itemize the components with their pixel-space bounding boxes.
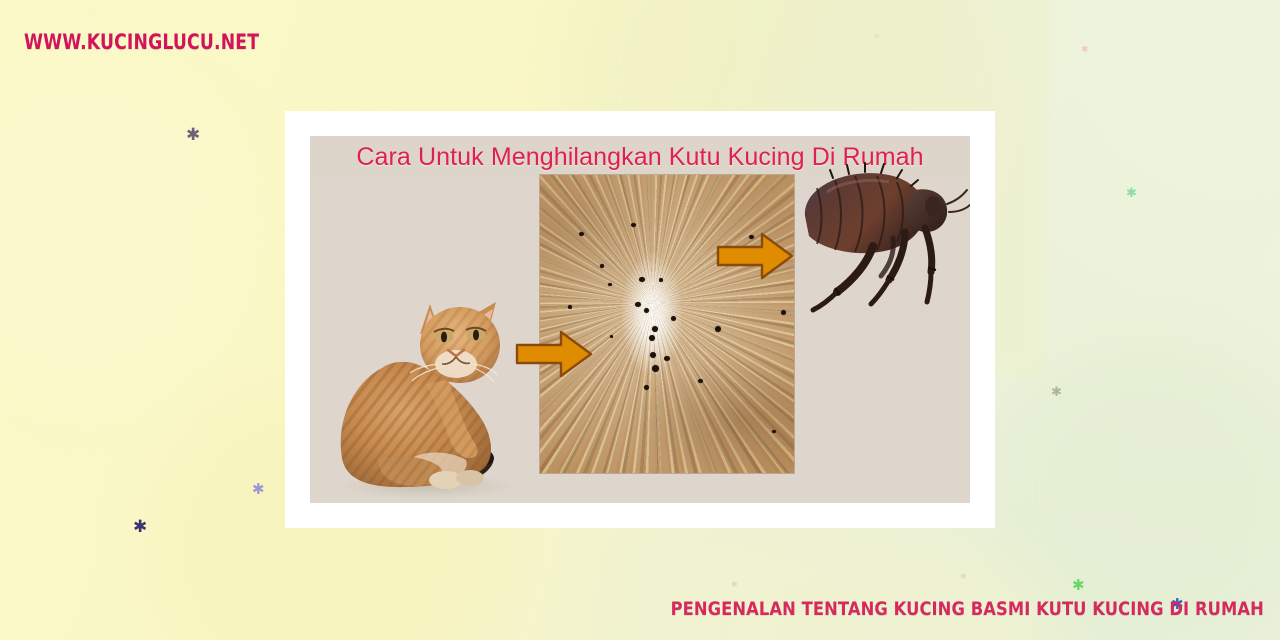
flea-dirt-speck	[631, 223, 636, 227]
image-card[interactable]: Cara Untuk Menghilangkan Kutu Kucing Di …	[285, 111, 995, 528]
flea-photo	[797, 158, 970, 318]
sparkle-icon: ✱	[731, 581, 738, 589]
flea-dirt-speck	[659, 278, 663, 282]
sparkle-icon: ✱	[1051, 386, 1062, 399]
sparkle-icon: ✱	[252, 482, 265, 497]
arrow-cat-to-fur-icon	[515, 329, 593, 379]
inner-photo: Cara Untuk Menghilangkan Kutu Kucing Di …	[310, 136, 970, 503]
fur-shading	[540, 175, 794, 473]
flea-dirt-speck	[608, 283, 612, 286]
flea-dirt-speck	[600, 264, 604, 268]
cat-photo	[320, 280, 533, 498]
sparkle-icon: ✱	[960, 573, 967, 581]
flea-dirt-speck	[639, 277, 645, 282]
sparkle-icon: ✱	[873, 33, 881, 42]
flea-dirt-speck	[610, 335, 613, 338]
flea-dirt-speck	[652, 365, 659, 372]
sparkle-icon: ✱	[133, 519, 147, 536]
flea-dirt-speck	[649, 335, 655, 341]
arrow-fur-to-flea-icon	[716, 231, 794, 281]
flea-dirt-speck	[664, 356, 670, 361]
flea-dirt-speck	[650, 352, 656, 358]
bottom-caption: PENGENALAN TENTANG KUCING BASMI KUTU KUC…	[0, 598, 1264, 620]
sparkle-icon: ✱	[1072, 578, 1085, 593]
fur-closeup-photo	[539, 174, 795, 474]
bottom-caption-text: PENGENALAN TENTANG KUCING BASMI KUTU KUC…	[671, 598, 1264, 620]
sparkle-icon: ✱	[186, 127, 200, 144]
flea-dirt-speck	[635, 302, 641, 307]
flea-dirt-speck	[644, 308, 649, 313]
site-watermark: WWW.KUCINGLUCU.NET	[24, 30, 259, 54]
sparkle-icon: ✱	[1126, 187, 1137, 200]
flea-dirt-speck	[568, 305, 572, 309]
flea-dirt-speck	[671, 316, 676, 321]
flea-dirt-speck	[652, 326, 658, 332]
flea-dirt-speck	[772, 430, 776, 433]
flea-dirt-speck	[781, 310, 786, 315]
flea-dirt-speck	[644, 385, 649, 390]
flea-dirt-speck	[579, 232, 584, 236]
flea-dirt-speck	[698, 379, 703, 383]
sparkle-icon: ✱	[1081, 46, 1089, 55]
flea-dirt-speck	[715, 326, 721, 332]
